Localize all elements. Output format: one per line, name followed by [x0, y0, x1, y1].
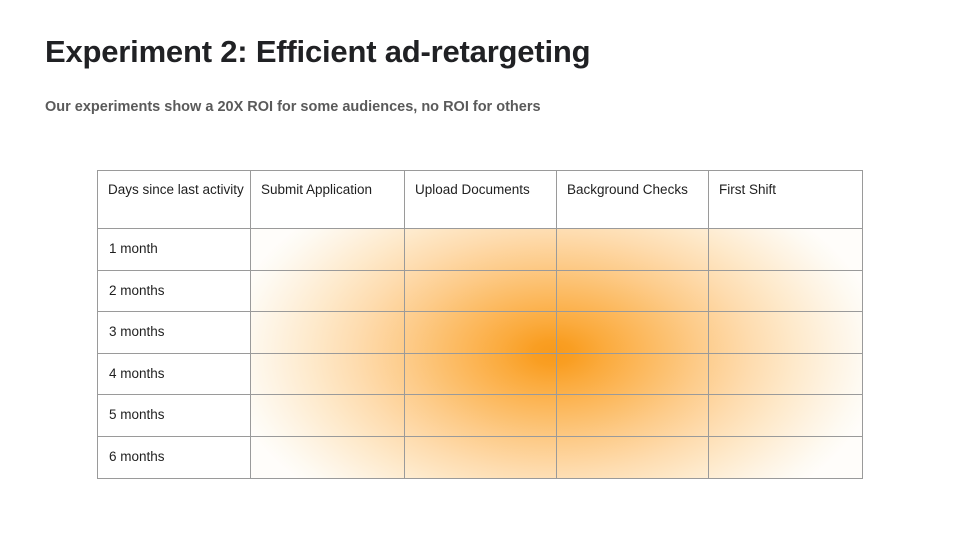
- column-header-submit-application: Submit Application: [251, 171, 405, 229]
- heat-cell-4-months-upload-documents: [405, 353, 557, 395]
- heat-cell-3-months-upload-documents: [405, 312, 557, 354]
- heat-cell-1-month-first-shift: [709, 229, 863, 271]
- column-header-upload-documents: Upload Documents: [405, 171, 557, 229]
- heat-cell-4-months-submit-application: [251, 353, 405, 395]
- heat-cell-1-month-background-checks: [557, 229, 709, 271]
- heat-cell-4-months-background-checks: [557, 353, 709, 395]
- table-row: 4 months: [98, 353, 863, 395]
- table-header-row: Days since last activity Submit Applicat…: [98, 171, 863, 229]
- heat-cell-6-months-background-checks: [557, 436, 709, 478]
- table-row: 1 month: [98, 229, 863, 271]
- slide-canvas: Experiment 2: Efficient ad-retargeting O…: [0, 0, 960, 540]
- table-body: 1 month 2 months 3 months: [98, 229, 863, 479]
- table-row: 3 months: [98, 312, 863, 354]
- row-label-4-months: 4 months: [98, 353, 251, 395]
- heat-cell-2-months-submit-application: [251, 270, 405, 312]
- heat-cell-6-months-upload-documents: [405, 436, 557, 478]
- table-row: 6 months: [98, 436, 863, 478]
- row-label-2-months: 2 months: [98, 270, 251, 312]
- page-title: Experiment 2: Efficient ad-retargeting: [45, 34, 590, 70]
- heatmap-table: Days since last activity Submit Applicat…: [97, 170, 863, 479]
- heat-cell-5-months-background-checks: [557, 395, 709, 437]
- heat-cell-5-months-first-shift: [709, 395, 863, 437]
- row-label-5-months: 5 months: [98, 395, 251, 437]
- row-label-3-months: 3 months: [98, 312, 251, 354]
- heat-cell-2-months-upload-documents: [405, 270, 557, 312]
- heat-cell-1-month-upload-documents: [405, 229, 557, 271]
- row-label-6-months: 6 months: [98, 436, 251, 478]
- heat-cell-3-months-first-shift: [709, 312, 863, 354]
- table-row: 5 months: [98, 395, 863, 437]
- page-subtitle: Our experiments show a 20X ROI for some …: [45, 99, 541, 115]
- heat-cell-2-months-background-checks: [557, 270, 709, 312]
- heat-cell-2-months-first-shift: [709, 270, 863, 312]
- heat-cell-6-months-submit-application: [251, 436, 405, 478]
- row-label-1-month: 1 month: [98, 229, 251, 271]
- heat-cell-6-months-first-shift: [709, 436, 863, 478]
- table-header: Days since last activity Submit Applicat…: [98, 171, 863, 229]
- column-header-days-since-last-activity: Days since last activity: [98, 171, 251, 229]
- heat-cell-5-months-submit-application: [251, 395, 405, 437]
- heat-cell-4-months-first-shift: [709, 353, 863, 395]
- heat-cell-1-month-submit-application: [251, 229, 405, 271]
- table-row: 2 months: [98, 270, 863, 312]
- heat-cell-3-months-submit-application: [251, 312, 405, 354]
- column-header-first-shift: First Shift: [709, 171, 863, 229]
- column-header-background-checks: Background Checks: [557, 171, 709, 229]
- heat-cell-3-months-background-checks: [557, 312, 709, 354]
- heatmap-table-container: Days since last activity Submit Applicat…: [97, 170, 862, 478]
- heat-cell-5-months-upload-documents: [405, 395, 557, 437]
